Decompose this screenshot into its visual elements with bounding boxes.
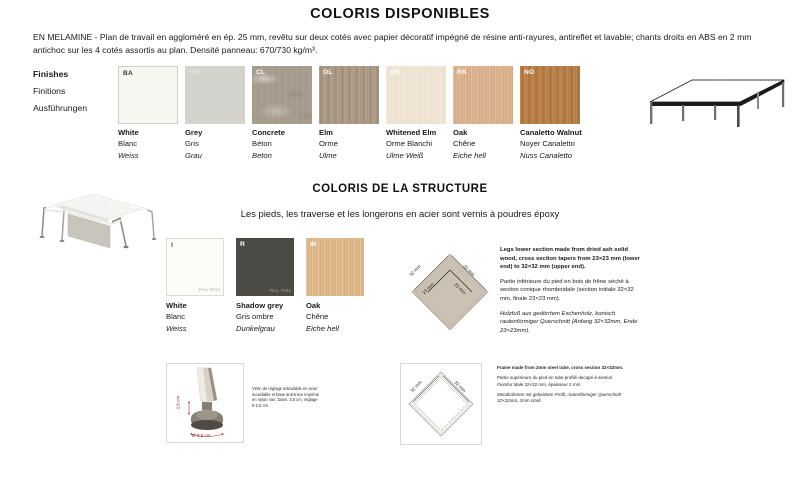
swatch-name-group: OakChêneEiche hell (306, 300, 382, 334)
swatch-chip: OB (386, 66, 446, 124)
finishes-label-de: Ausführungen (33, 100, 123, 117)
finishes-label-en: Finishes (33, 66, 123, 83)
swatch-name-fr: Gris ombre (236, 311, 312, 322)
swatch-chip: NO (520, 66, 580, 124)
melamine-swatch-ob[interactable]: OBWhitened ElmOrme BlanchiUlme Weiß (386, 66, 446, 124)
swatch-name-de: Weiss (118, 150, 194, 161)
steel-frame-note-fr: Partie supérieure du pied en tube profil… (497, 375, 625, 388)
swatch-name-fr: Gris (185, 138, 261, 149)
swatch-name-en: White (118, 127, 194, 138)
melamine-swatch-cl[interactable]: CLConcreteBétonBeton (252, 66, 312, 124)
swatch-ral-code: RAL 9010 (199, 287, 220, 292)
swatch-name-de: Eiche hell (306, 323, 382, 334)
steel-frame-note-de: Metallrahmen mit gebeiztem Profil, raute… (497, 392, 625, 405)
swatch-name-fr: Noyer Canaletto (520, 138, 596, 149)
steel-frame-note-en: Frame made from 2mm steel tube, cross se… (497, 365, 625, 371)
glide-detail-figure-frame: 2,5 cm Ø 3,5 cm (166, 363, 244, 443)
swatch-name-en: Shadow grey (236, 300, 312, 311)
swatch-code-label: CL (256, 69, 265, 76)
swatch-name-de: Ulme (319, 150, 395, 161)
swatch-chip: CL (252, 66, 312, 124)
swatch-name-fr: Orme (319, 138, 395, 149)
swatch-name-de: Beton (252, 150, 328, 161)
swatch-name-de: Nuss Canaletto (520, 150, 596, 161)
swatch-code-label: W (310, 241, 316, 248)
swatch-ral-code: RAL 7022 (270, 288, 291, 293)
swatch-name-en: Oak (453, 127, 529, 138)
melamine-swatch-rk[interactable]: RKOakChêneEiche hell (453, 66, 513, 124)
bench-desk-photo-icon (34, 178, 166, 259)
swatch-code-label: OB (390, 69, 401, 76)
swatch-name-de: Weiss (166, 323, 242, 334)
swatch-name-fr: Chêne (306, 311, 382, 322)
melamine-swatch-ol[interactable]: OLElmOrmeUlme (319, 66, 379, 124)
swatch-name-de: Grau (185, 150, 261, 161)
wood-leg-note-en: Legs lower section made from dried ash s… (500, 246, 642, 272)
swatch-name-de: Dunkelgrau (236, 323, 312, 334)
swatch-code-label: R (240, 241, 245, 248)
swatch-code-label: OL (323, 69, 333, 76)
swatch-name-group: Whitened ElmOrme BlanchiUlme Weiß (386, 127, 462, 161)
swatch-name-group: WhiteBlancWeiss (166, 300, 242, 334)
swatch-code-label: RK (457, 69, 467, 76)
wood-leg-cross-section-figure: 32 mm 32 mm 23 mm 23 mm (404, 246, 496, 338)
structure-swatch-white[interactable]: IRAL 9010WhiteBlancWeiss (166, 238, 224, 296)
swatch-name-de: Ulme Weiß (386, 150, 462, 161)
structure-swatch-shadow-grey[interactable]: RRAL 7022Shadow greyGris ombreDunkelgrau (236, 238, 294, 296)
swatch-name-fr: Chêne (453, 138, 529, 149)
swatch-name-group: ElmOrmeUlme (319, 127, 395, 161)
swatch-chip: OL (319, 66, 379, 124)
glide-note-text: Vérin de réglage articulable en acier in… (252, 386, 322, 408)
finishes-label-group: Finishes Finitions Ausführungen (33, 66, 123, 117)
wood-leg-note-fr: Partie inférieure du pied en bois de frê… (500, 278, 642, 304)
glide-note: Vérin de réglage articulable en acier in… (252, 386, 322, 408)
swatch-name-en: White (166, 300, 242, 311)
swatch-code-label: NO (524, 69, 535, 76)
melamine-swatch-gr[interactable]: GRGreyGrisGrau (185, 66, 245, 124)
swatch-name-fr: Blanc (166, 311, 242, 322)
swatch-chip: RK (453, 66, 513, 124)
glide-dim-diameter: Ø 3,5 cm (192, 433, 211, 438)
swatch-chip: W (306, 238, 364, 296)
spec-sheet-page: COLORIS DISPONIBLES EN MELAMINE - Plan d… (0, 0, 800, 479)
swatch-chip: BA (118, 66, 178, 124)
wood-leg-note-de: Holzfuß aus gedörrtem Eschenholz, konisc… (500, 310, 642, 336)
steel-tube-cross-section-frame: 32 mm 32 mm (400, 363, 482, 445)
swatch-name-group: WhiteBlancWeiss (118, 127, 194, 161)
swatch-name-de: Eiche hell (453, 150, 529, 161)
swatch-name-en: Canaletto Walnut (520, 127, 596, 138)
wood-leg-note: Legs lower section made from dried ash s… (500, 246, 642, 341)
glide-dim-height: 2,5 cm (175, 396, 180, 410)
swatch-name-group: Shadow greyGris ombreDunkelgrau (236, 300, 312, 334)
swatch-code-label: BA (123, 70, 133, 77)
swatch-code-label: I (171, 242, 173, 249)
swatch-name-en: Grey (185, 127, 261, 138)
structure-swatch-oak[interactable]: WOakChêneEiche hell (306, 238, 364, 296)
steel-frame-note: Frame made from 2mm steel tube, cross se… (497, 365, 625, 408)
swatch-name-fr: Blanc (118, 138, 194, 149)
melamine-description: EN MELAMINE - Plan de travail en agglomé… (33, 31, 775, 57)
swatch-name-fr: Béton (252, 138, 328, 149)
swatch-chip: IRAL 9010 (166, 238, 224, 296)
page-title: COLORIS DISPONIBLES (0, 6, 800, 22)
melamine-swatch-no[interactable]: NOCanaletto WalnutNoyer CanalettoNuss Ca… (520, 66, 580, 124)
swatch-chip: RRAL 7022 (236, 238, 294, 296)
swatch-code-label: GR (189, 69, 200, 76)
swatch-name-en: Oak (306, 300, 382, 311)
swatch-name-group: ConcreteBétonBeton (252, 127, 328, 161)
swatch-chip: GR (185, 66, 245, 124)
swatch-name-en: Whitened Elm (386, 127, 462, 138)
finishes-label-fr: Finitions (33, 83, 123, 100)
swatch-name-group: Canaletto WalnutNoyer CanalettoNuss Cana… (520, 127, 596, 161)
swatch-name-en: Concrete (252, 127, 328, 138)
melamine-swatch-ba[interactable]: BAWhiteBlancWeiss (118, 66, 178, 124)
swatch-name-group: OakChêneEiche hell (453, 127, 529, 161)
swatch-name-group: GreyGrisGrau (185, 127, 261, 161)
swatch-name-en: Elm (319, 127, 395, 138)
swatch-name-fr: Orme Blanchi (386, 138, 462, 149)
desk-line-drawing-icon (636, 72, 788, 133)
